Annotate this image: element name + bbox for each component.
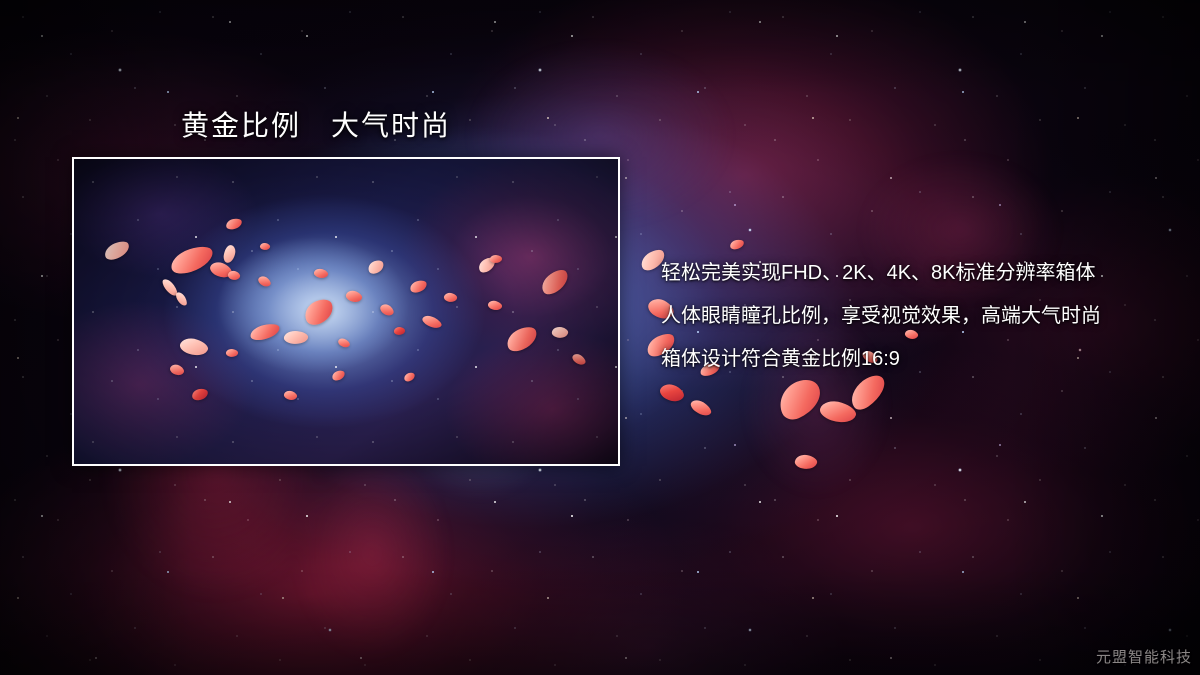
rose-petal [794, 453, 818, 471]
rose-petal [689, 397, 714, 420]
panel-vignette [74, 159, 618, 464]
body-line: 箱体设计符合黄金比例16:9 [661, 338, 1161, 381]
body-line: 人体眼睛瞳孔比例，享受视觉效果，高端大气时尚 [661, 295, 1161, 338]
body-line: 轻松完美实现FHD、2K、4K、8K标准分辨率箱体 [661, 252, 1161, 295]
rose-petal [818, 397, 858, 427]
rose-petal [658, 380, 687, 405]
slide-title: 黄金比例 大气时尚 [181, 104, 451, 144]
slide-canvas: 黄金比例 大气时尚 轻松完美实现FHD、2K、4K、8K标准分辨率箱体 人体眼睛… [0, 0, 1200, 675]
framed-video-panel [72, 157, 620, 466]
rose-petal [729, 239, 744, 250]
watermark-logo-text: 元盟智能科技 [1096, 646, 1192, 667]
body-text-block: 轻松完美实现FHD、2K、4K、8K标准分辨率箱体 人体眼睛瞳孔比例，享受视觉效… [661, 252, 1161, 381]
rose-petal [773, 375, 827, 424]
